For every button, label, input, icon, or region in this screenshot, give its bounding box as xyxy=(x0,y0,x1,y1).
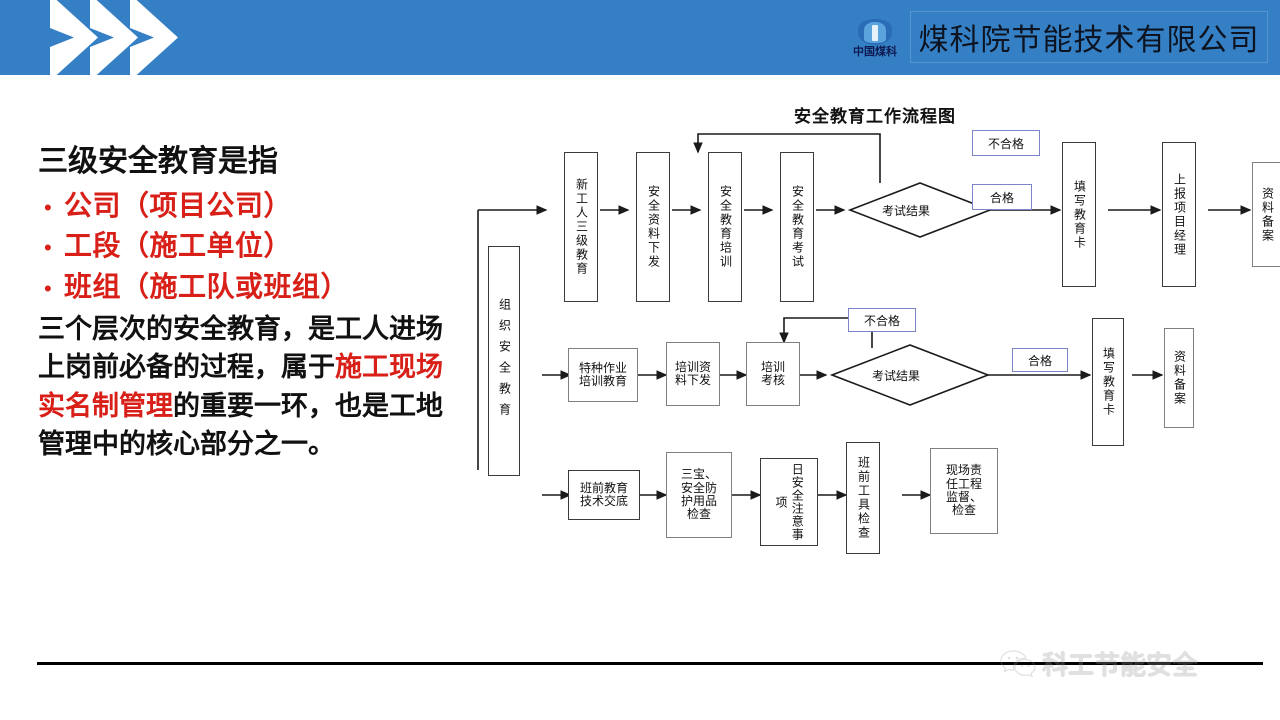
edge-tag-fail-row2: 不合格 xyxy=(848,308,916,332)
bullet-text: 工段（施工单位） xyxy=(64,230,292,261)
flow-node-n2-5: 资料备案 xyxy=(1164,328,1194,428)
flow-node-n1-1: 新工人三级教育 xyxy=(564,152,598,302)
flow-node-n1-7: 资料备案 xyxy=(1252,162,1280,267)
flow-node-n1-5: 填写教育卡 xyxy=(1062,142,1096,287)
logo-caption: 中国煤科 xyxy=(853,47,897,58)
decision-label-row2: 考试结果 xyxy=(872,367,920,384)
list-item: • 公司（项目公司） xyxy=(38,190,458,221)
flow-node-n3-2: 三宝、 安全防 护用品 检查 xyxy=(666,452,732,538)
list-item: • 工段（施工单位） xyxy=(38,230,458,261)
flow-node-n1-4: 安全教育考试 xyxy=(780,152,814,302)
edge-tag-fail-row1: 不合格 xyxy=(972,130,1040,156)
flow-node-n1-3: 安全教育培训 xyxy=(708,152,742,302)
edge-tag-pass-row2: 合格 xyxy=(1012,348,1068,372)
bullet-text: 班组（施工队或班组） xyxy=(64,271,349,302)
company-name: 煤科院节能技术有限公司 xyxy=(919,15,1260,59)
flow-node-n3-5: 现场责 任工程 监督、 检查 xyxy=(930,448,998,534)
lead-title: 三级安全教育是指 xyxy=(38,145,458,178)
coal-science-logo-icon xyxy=(855,19,895,46)
bullet-dot-icon: • xyxy=(38,237,64,259)
bullet-text: 公司（项目公司） xyxy=(64,190,292,221)
left-text-column: 三级安全教育是指 • 公司（项目公司） • 工段（施工单位） • 班组（施工队或… xyxy=(38,145,458,464)
flow-node-n2-2: 培训资 料下发 xyxy=(666,342,720,406)
bullet-dot-icon: • xyxy=(38,278,64,300)
flow-node-n2-4: 填写教育卡 xyxy=(1092,318,1124,446)
flow-node-n1-6: 上报项目经理 xyxy=(1162,142,1196,287)
flowchart: 安全教育工作流程图 xyxy=(460,90,1280,660)
double-chevron-right-icon xyxy=(40,0,190,75)
company-name-box: 煤科院节能技术有限公司 xyxy=(910,11,1268,63)
bullet-dot-icon: • xyxy=(38,197,64,219)
flow-node-n2-3: 培训 考核 xyxy=(746,342,800,406)
flow-node-n3-1: 班前教育 技术交底 xyxy=(568,470,640,520)
flow-node-organize-safety-education: 组织安全教育 xyxy=(488,246,520,476)
edge-tag-pass-row1: 合格 xyxy=(972,184,1032,210)
footer-watermark: 科工节能安全 xyxy=(1000,645,1198,682)
footer-watermark-text: 科工节能安全 xyxy=(1042,645,1198,682)
flow-node-n3-3: 日安全注意事项 xyxy=(760,458,818,546)
decision-label-row1: 考试结果 xyxy=(882,202,930,219)
wechat-icon xyxy=(1000,649,1036,679)
flow-node-n2-1: 特种作业 培训教育 xyxy=(568,348,638,402)
page-header: 中国煤科 煤科院节能技术有限公司 xyxy=(0,0,1280,75)
body-paragraph: 三个层次的安全教育，是工人进场上岗前必备的过程，属于施工现场实名制管理的重要一环… xyxy=(38,311,458,464)
flow-node-n3-4: 班前工具检查 xyxy=(846,442,880,554)
flow-node-n1-2: 安全资料下发 xyxy=(636,152,670,302)
list-item: • 班组（施工队或班组） xyxy=(38,271,458,302)
company-logo: 中国煤科 xyxy=(845,8,905,68)
